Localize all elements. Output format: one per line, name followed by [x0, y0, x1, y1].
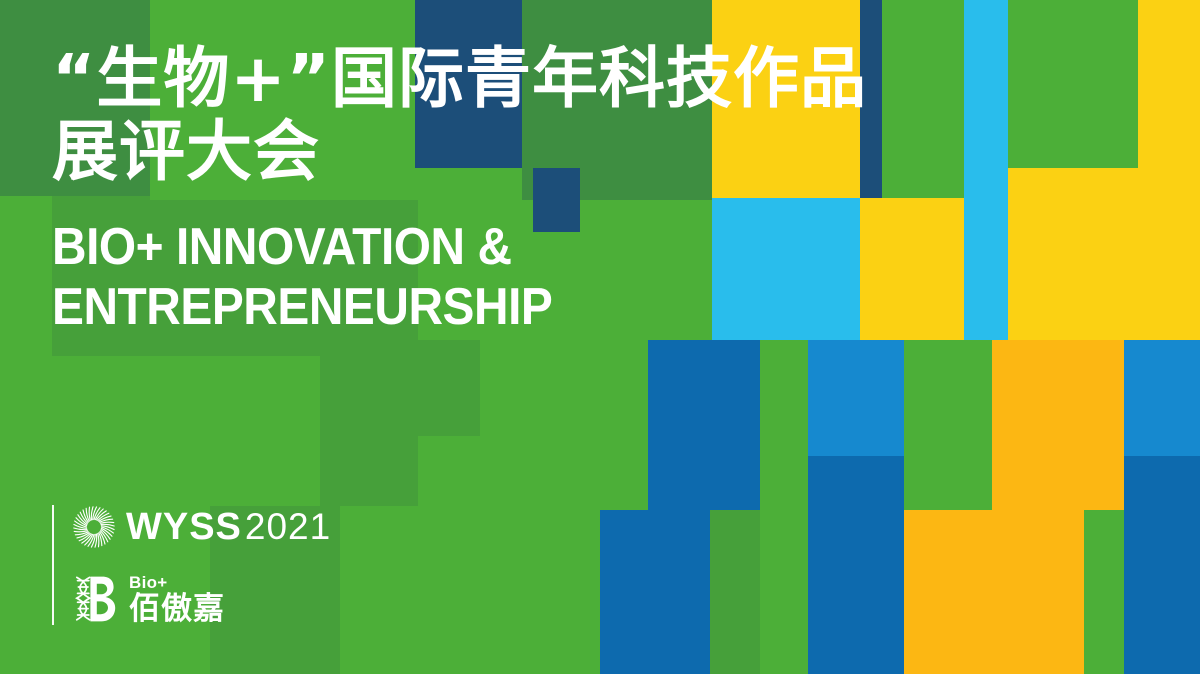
page-title-chinese: “生物+”国际青年科技作品 展评大会	[52, 42, 1002, 188]
logo-stack: WYSS 2021	[72, 505, 331, 625]
logo-bio-superscript: Bio+	[129, 574, 225, 591]
logo-wyss[interactable]: WYSS 2021	[72, 505, 331, 549]
logo-bio-text: Bio+ 佰傲嘉	[129, 574, 225, 625]
dna-b-icon	[72, 573, 120, 625]
logo-wyss-name: WYSS	[126, 508, 242, 546]
logo-divider-rule	[52, 505, 54, 625]
page-title-english: BIO+ INNOVATION & ENTREPRENEURSHIP	[52, 217, 751, 337]
logo-bio[interactable]: Bio+ 佰傲嘉	[72, 573, 331, 625]
logo-wyss-text: WYSS 2021	[126, 508, 331, 546]
logo-lockup-group: WYSS 2021	[52, 505, 331, 625]
logo-wyss-year: 2021	[245, 508, 331, 546]
poster-content: “生物+”国际青年科技作品 展评大会 BIO+ INNOVATION & ENT…	[0, 0, 1200, 674]
sunburst-icon	[72, 505, 116, 549]
logo-bio-name-chinese: 佰傲嘉	[129, 594, 225, 625]
poster-canvas: “生物+”国际青年科技作品 展评大会 BIO+ INNOVATION & ENT…	[0, 0, 1200, 674]
